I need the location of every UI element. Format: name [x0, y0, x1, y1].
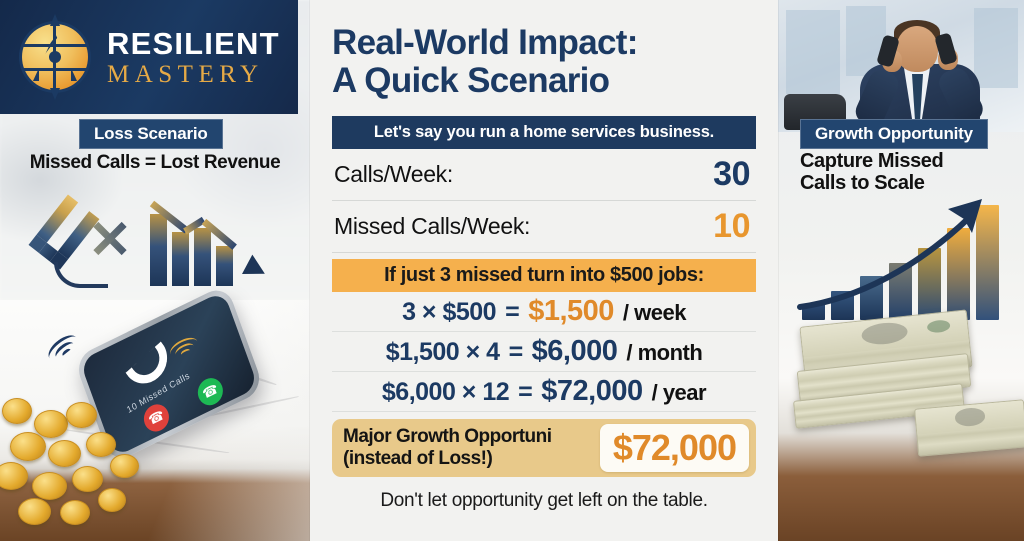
loss-tagline: Missed Calls = Lost Revenue — [0, 152, 310, 174]
cash-stacks-icon — [914, 399, 1024, 456]
calc-period: / month — [626, 340, 702, 366]
growth-tagline: Capture Missed Calls to Scale — [800, 150, 960, 194]
calc-period: / week — [623, 300, 686, 326]
brand-name-line-1: RESILIENT — [107, 28, 280, 59]
brand-header: RESILIENT MASTERY — [0, 0, 298, 114]
calc-result: $72,000 — [541, 375, 642, 408]
growth-bar-chart — [796, 205, 1008, 320]
calc-result: $6,000 — [532, 335, 618, 368]
upward-arrow-icon — [796, 191, 1008, 319]
calc-expression: $6,000 × 12 — [382, 378, 509, 407]
summary-label-line-1: Major Growth Opportuni — [343, 426, 552, 447]
chart-declining-icon — [148, 194, 268, 294]
right-growth-panel — [778, 0, 1024, 541]
calc-row-month: $1,500 × 4 = $6,000 / month — [332, 332, 756, 372]
calc-expression: $1,500 × 4 — [386, 338, 500, 367]
infographic-canvas: 10 Missed Calls ☎ ☎ — [0, 0, 1024, 541]
stat-row-missed-calls-per-week: Missed Calls/Week: 10 — [332, 201, 756, 253]
summary-label: Major Growth Opportuni (instead of Loss!… — [343, 426, 552, 469]
signal-waves-icon — [165, 325, 203, 364]
phone-missed-icon — [38, 196, 130, 291]
growth-tagline-line-1: Capture Missed — [800, 150, 960, 172]
face-shape — [896, 26, 938, 72]
compass-center — [49, 51, 61, 63]
summary-box: Major Growth Opportuni (instead of Loss!… — [332, 419, 756, 477]
compass-point-top — [50, 14, 60, 26]
calc-result: $1,500 — [528, 295, 614, 328]
calc-equals: = — [505, 298, 519, 327]
calc-equals: = — [518, 378, 532, 407]
calc-row-week: 3 × $500 = $1,500 / week — [332, 292, 756, 332]
compass-point-bottom — [50, 88, 60, 100]
calc-expression: 3 × $500 — [402, 298, 496, 327]
scenario-intro-bar: Let's say you run a home services busine… — [332, 116, 756, 149]
stat-label: Calls/Week: — [334, 161, 453, 188]
brand-name-line-2: MASTERY — [107, 62, 280, 87]
brand-name: RESILIENT MASTERY — [107, 28, 280, 87]
globe-compass-icon — [18, 20, 92, 94]
stat-label: Missed Calls/Week: — [334, 213, 530, 240]
down-arrow-icon — [242, 255, 270, 284]
scenario-card: Real-World Impact: A Quick Scenario Let'… — [310, 0, 778, 541]
loss-scenario-badge: Loss Scenario — [79, 119, 223, 149]
phone-accept-icon: ☎ — [194, 374, 226, 410]
stat-value: 30 — [713, 155, 750, 194]
calc-equals: = — [509, 338, 523, 367]
summary-amount: $72,000 — [600, 424, 749, 472]
title-line-1: Real-World Impact: — [332, 24, 756, 62]
stat-row-calls-per-week: Calls/Week: 30 — [332, 149, 756, 201]
calc-period: / year — [652, 380, 707, 406]
growth-tagline-line-2: Calls to Scale — [800, 172, 960, 194]
summary-label-line-2: (instead of Loss!) — [343, 448, 552, 469]
loss-icon-group — [30, 190, 280, 300]
businessman-on-phone-icon — [778, 0, 1024, 132]
phone-cord-shape — [54, 262, 108, 288]
handset-shape — [29, 194, 100, 269]
calc-row-year: $6,000 × 12 = $72,000 / year — [332, 372, 756, 412]
close-icon — [90, 218, 130, 258]
footer-note: Don't let opportunity get left on the ta… — [332, 490, 756, 512]
title-line-2: A Quick Scenario — [332, 62, 756, 100]
bill-seal — [927, 319, 951, 333]
condition-bar: If just 3 missed turn into $500 jobs: — [332, 259, 756, 292]
portrait-oval — [954, 407, 986, 427]
stat-value: 10 — [713, 207, 750, 246]
growth-opportunity-badge: Growth Opportunity — [800, 119, 988, 149]
page-title: Real-World Impact: A Quick Scenario — [332, 24, 756, 100]
portrait-oval — [860, 321, 908, 347]
gold-coins-icon — [0, 388, 184, 538]
